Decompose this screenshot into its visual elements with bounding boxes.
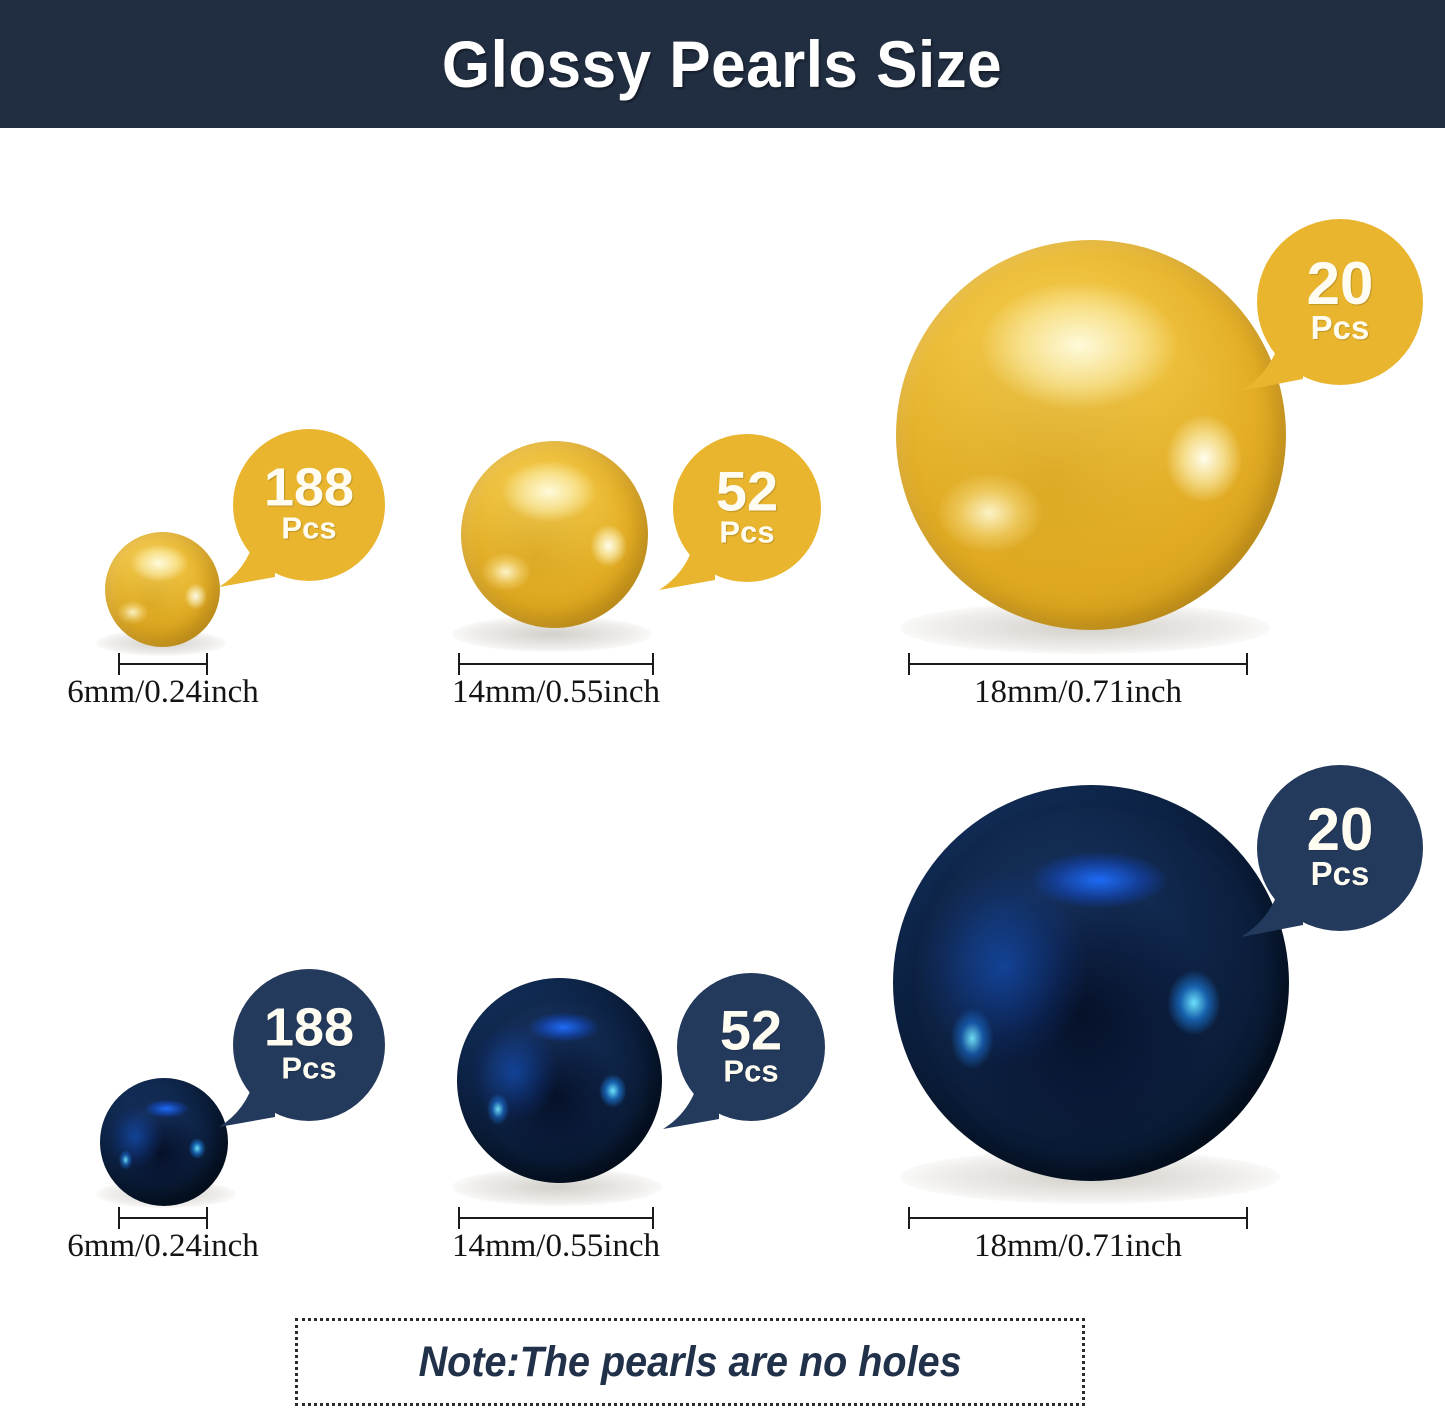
pearl-navy-6mm xyxy=(100,1078,228,1206)
caliper-gold-6mm xyxy=(118,652,208,676)
badge-bubble: 52 Pcs xyxy=(677,973,825,1121)
badge-unit: Pcs xyxy=(281,1053,336,1084)
badge-unit: Pcs xyxy=(281,513,336,544)
caliper-navy-6mm xyxy=(118,1206,208,1230)
pearl-navy-18mm xyxy=(893,785,1289,1181)
badge-navy-6mm[interactable]: 188 Pcs xyxy=(233,969,385,1121)
caliper-navy-18mm xyxy=(908,1206,1248,1230)
caliper-gold-14mm xyxy=(458,652,654,676)
badge-unit: Pcs xyxy=(723,1056,778,1087)
caliper-cap-left xyxy=(458,653,460,675)
badge-gold-14mm[interactable]: 52 Pcs xyxy=(673,434,821,582)
pearl-gold-14mm xyxy=(461,441,648,628)
pearl-navy-14mm xyxy=(457,978,662,1183)
caliper-cap-right xyxy=(652,653,654,675)
badge-unit: Pcs xyxy=(1311,857,1370,890)
size-label-navy-14mm: 14mm/0.55inch xyxy=(416,1228,696,1265)
badge-navy-14mm[interactable]: 52 Pcs xyxy=(677,973,825,1121)
caliper-cap-right xyxy=(206,653,208,675)
note-text: Note:The pearls are no holes xyxy=(418,1338,961,1387)
badge-gold-6mm[interactable]: 188 Pcs xyxy=(233,429,385,581)
caliper-bar xyxy=(118,1217,208,1219)
badge-count: 20 xyxy=(1307,256,1374,311)
badge-bubble: 188 Pcs xyxy=(233,969,385,1121)
caliper-cap-left xyxy=(458,1207,460,1229)
caliper-cap-left xyxy=(118,653,120,675)
caliper-bar xyxy=(908,663,1248,665)
infographic-page: Glossy Pearls Size 188 Pcs 6mm/0.24inch xyxy=(0,0,1445,1412)
size-label-gold-14mm: 14mm/0.55inch xyxy=(416,674,696,711)
badge-gold-18mm[interactable]: 20 Pcs xyxy=(1257,219,1423,385)
header-banner: Glossy Pearls Size xyxy=(0,0,1445,128)
badge-count: 52 xyxy=(720,1004,782,1056)
badge-navy-18mm[interactable]: 20 Pcs xyxy=(1257,765,1423,931)
caliper-cap-left xyxy=(908,1207,910,1229)
badge-bubble: 20 Pcs xyxy=(1257,765,1423,931)
caliper-cap-right xyxy=(206,1207,208,1229)
size-label-navy-18mm: 18mm/0.71inch xyxy=(938,1228,1218,1265)
caliper-cap-right xyxy=(652,1207,654,1229)
size-label-gold-18mm: 18mm/0.71inch xyxy=(938,674,1218,711)
note-box: Note:The pearls are no holes xyxy=(295,1318,1085,1406)
page-title: Glossy Pearls Size xyxy=(442,26,1002,102)
badge-bubble: 20 Pcs xyxy=(1257,219,1423,385)
caliper-gold-18mm xyxy=(908,652,1248,676)
pearl-gold-6mm xyxy=(105,532,220,647)
badge-count: 20 xyxy=(1307,802,1374,857)
caliper-bar xyxy=(908,1217,1248,1219)
size-label-navy-6mm: 6mm/0.24inch xyxy=(23,1228,303,1265)
caliper-cap-right xyxy=(1246,653,1248,675)
pearl-gold-18mm xyxy=(896,240,1286,630)
badge-unit: Pcs xyxy=(719,517,774,548)
caliper-bar xyxy=(118,663,208,665)
badge-bubble: 188 Pcs xyxy=(233,429,385,581)
caliper-bar xyxy=(458,663,654,665)
caliper-cap-left xyxy=(908,653,910,675)
size-label-gold-6mm: 6mm/0.24inch xyxy=(23,674,303,711)
caliper-navy-14mm xyxy=(458,1206,654,1230)
badge-count: 52 xyxy=(716,465,778,517)
caliper-cap-right xyxy=(1246,1207,1248,1229)
badge-count: 188 xyxy=(264,1003,354,1053)
badge-bubble: 52 Pcs xyxy=(673,434,821,582)
caliper-bar xyxy=(458,1217,654,1219)
caliper-cap-left xyxy=(118,1207,120,1229)
badge-unit: Pcs xyxy=(1311,311,1370,344)
badge-count: 188 xyxy=(264,463,354,513)
